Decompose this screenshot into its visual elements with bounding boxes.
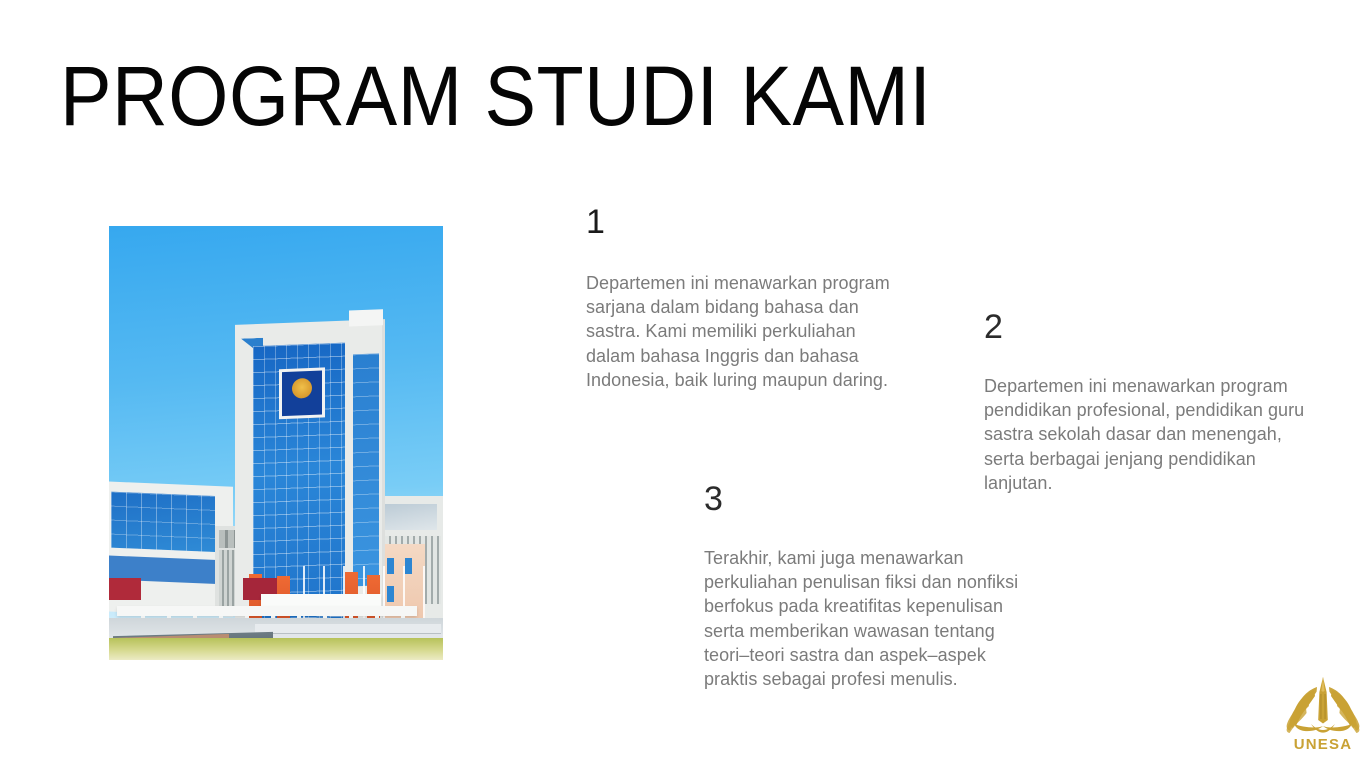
photo-banner (109, 578, 141, 600)
photo-step (255, 624, 441, 633)
unesa-wordmark: UNESA (1281, 736, 1365, 753)
page-title: PROGRAM STUDI KAMI (60, 54, 980, 138)
program-block-2-text: Departemen ini menawarkan program pendid… (984, 374, 1324, 495)
program-block-3: 3 Terakhir, kami juga menawarkan perkuli… (704, 482, 1036, 691)
photo-tower-emblem (279, 367, 325, 419)
campus-photo: UNIVERSITAS NEGERI SURABAYA STATE UNIVER… (109, 226, 443, 660)
program-block-2-number: 2 (984, 310, 1324, 344)
photo-entrance-canopy-upper (261, 594, 381, 606)
unesa-logo: UNESA (1281, 674, 1365, 760)
program-block-3-number: 3 (704, 482, 1036, 516)
program-block-1-number: 1 (586, 205, 902, 239)
photo-left-wing-glass (111, 492, 215, 552)
program-block-1: 1 Departemen ini menawarkan program sarj… (586, 205, 902, 392)
program-block-3-text: Terakhir, kami juga menawarkan perkuliah… (704, 546, 1036, 691)
slide: PROGRAM STUDI KAMI (0, 0, 1366, 768)
photo-tower-cap (349, 309, 383, 326)
photo-entrance-canopy (117, 606, 417, 616)
photo-sky: UNIVERSITAS NEGERI SURABAYA STATE UNIVER… (109, 226, 443, 660)
unesa-flame-wings-icon (1281, 674, 1365, 736)
photo-grass (109, 638, 443, 660)
program-block-1-text: Departemen ini menawarkan program sarjan… (586, 271, 902, 392)
program-block-2: 2 Departemen ini menawarkan program pend… (984, 310, 1324, 495)
photo-tower-glass-right (353, 353, 379, 586)
